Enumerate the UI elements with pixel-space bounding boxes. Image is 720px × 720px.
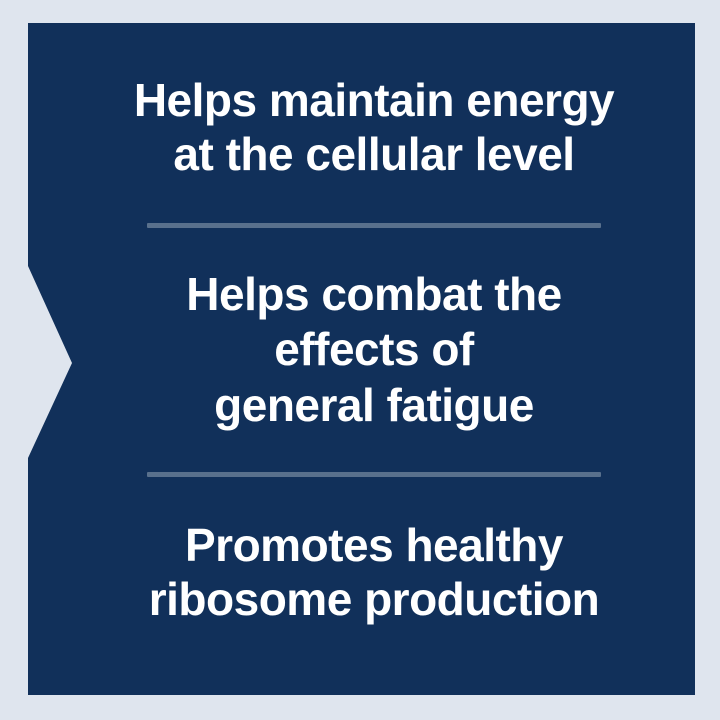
benefit-line: at the cellular level (173, 127, 574, 181)
benefits-list: Helps maintain energy at the cellular le… (90, 23, 658, 695)
benefit-line: ribosome production (149, 572, 600, 626)
benefit-line: Helps maintain energy (134, 73, 614, 127)
benefit-item-fatigue: Helps combat the effects of general fati… (90, 228, 658, 472)
benefit-line: effects of (274, 322, 473, 377)
benefit-line: Promotes healthy (185, 518, 563, 572)
benefit-item-energy: Helps maintain energy at the cellular le… (90, 23, 658, 223)
benefits-graphic: Helps maintain energy at the cellular le… (0, 0, 720, 720)
benefit-item-ribosome: Promotes healthy ribosome production (90, 477, 658, 667)
benefit-line: general fatigue (214, 378, 534, 433)
benefit-line: Helps combat the (186, 267, 561, 322)
